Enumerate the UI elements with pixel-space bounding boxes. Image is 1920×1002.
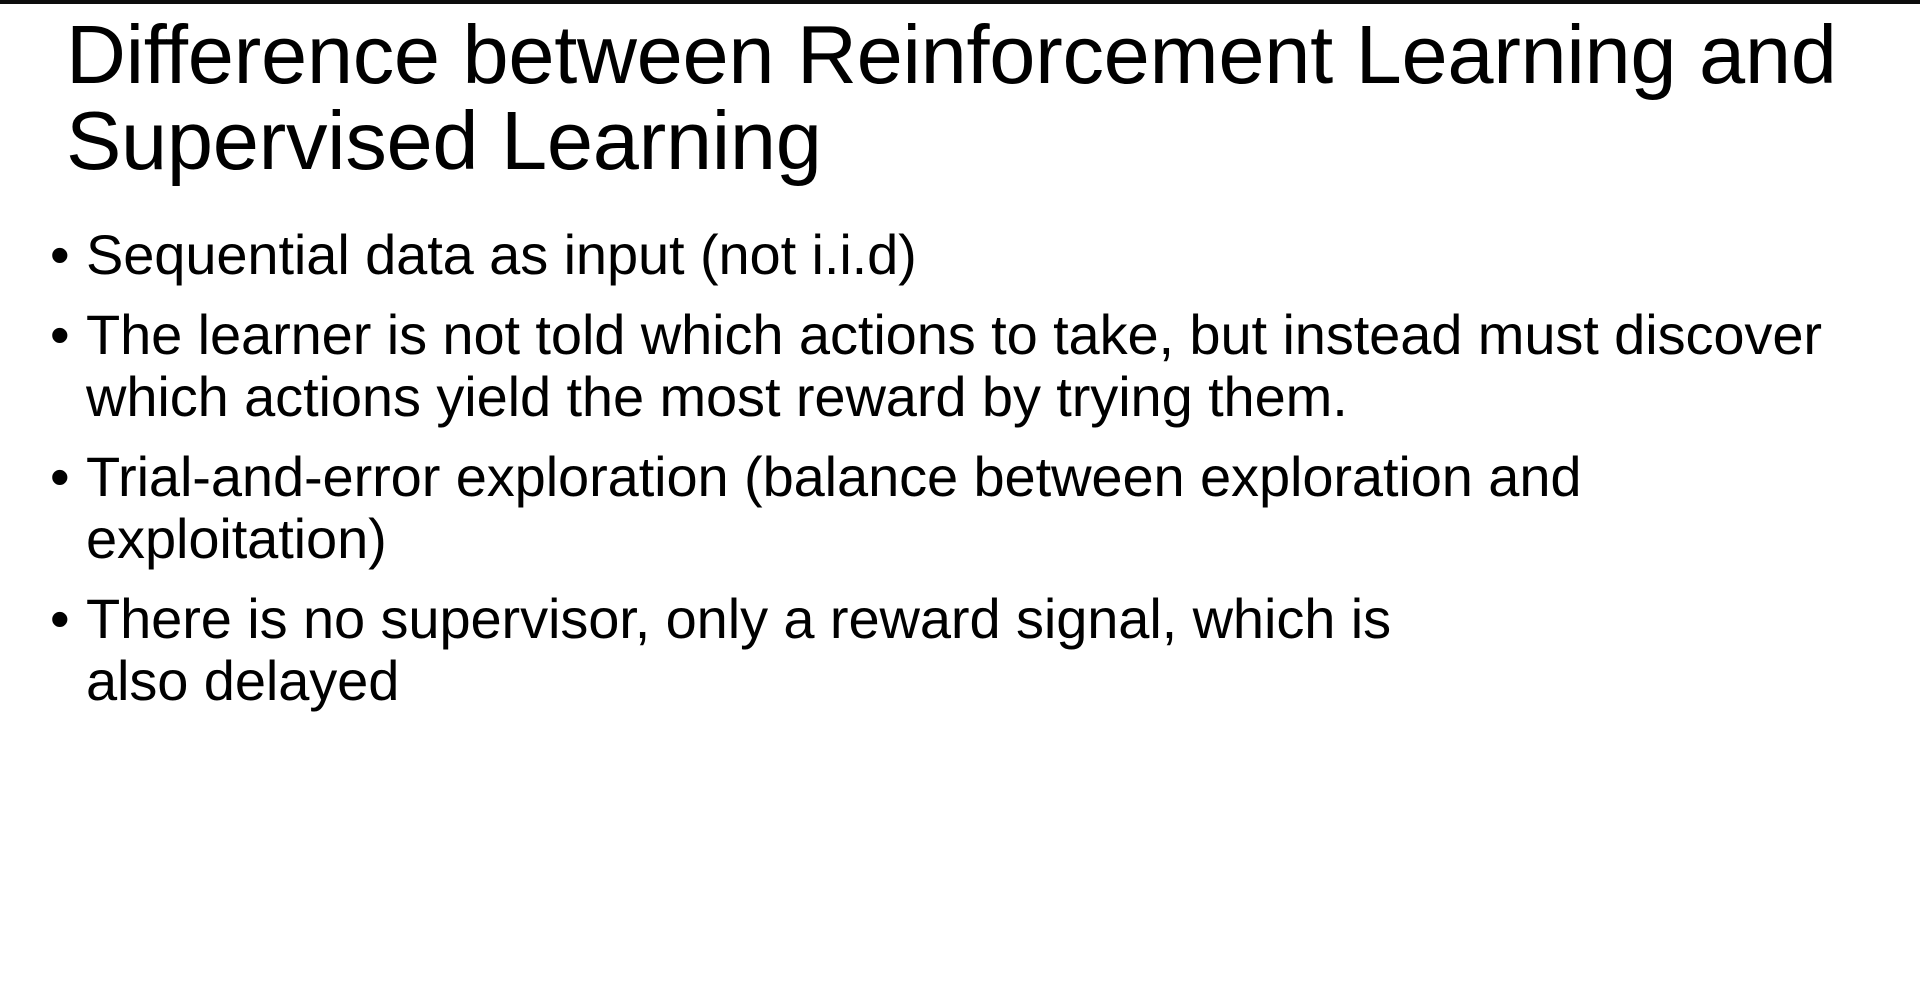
list-item: • There is no supervisor, only a reward … <box>50 588 1880 712</box>
bullet-point-icon: • <box>50 588 86 650</box>
bullet-point-icon: • <box>50 304 86 366</box>
slide-body-content: • Sequential data as input (not i.i.d) •… <box>50 224 1880 712</box>
list-item-text: There is no supervisor, only a reward si… <box>86 588 1506 712</box>
list-item-text: Sequential data as input (not i.i.d) <box>86 224 1846 286</box>
slide-title-block: Difference between Reinforcement Learnin… <box>66 12 1856 184</box>
list-item-text: Trial-and-error exploration (balance bet… <box>86 446 1846 570</box>
list-item: • Trial-and-error exploration (balance b… <box>50 446 1880 570</box>
presentation-slide: Difference between Reinforcement Learnin… <box>0 0 1920 1002</box>
bullet-point-icon: • <box>50 224 86 286</box>
page-title: Difference between Reinforcement Learnin… <box>66 12 1856 184</box>
bullet-point-icon: • <box>50 446 86 508</box>
list-item: • Sequential data as input (not i.i.d) <box>50 224 1880 286</box>
list-item: • The learner is not told which actions … <box>50 304 1880 428</box>
slide-top-rule <box>0 0 1920 4</box>
list-item-text: The learner is not told which actions to… <box>86 304 1866 428</box>
